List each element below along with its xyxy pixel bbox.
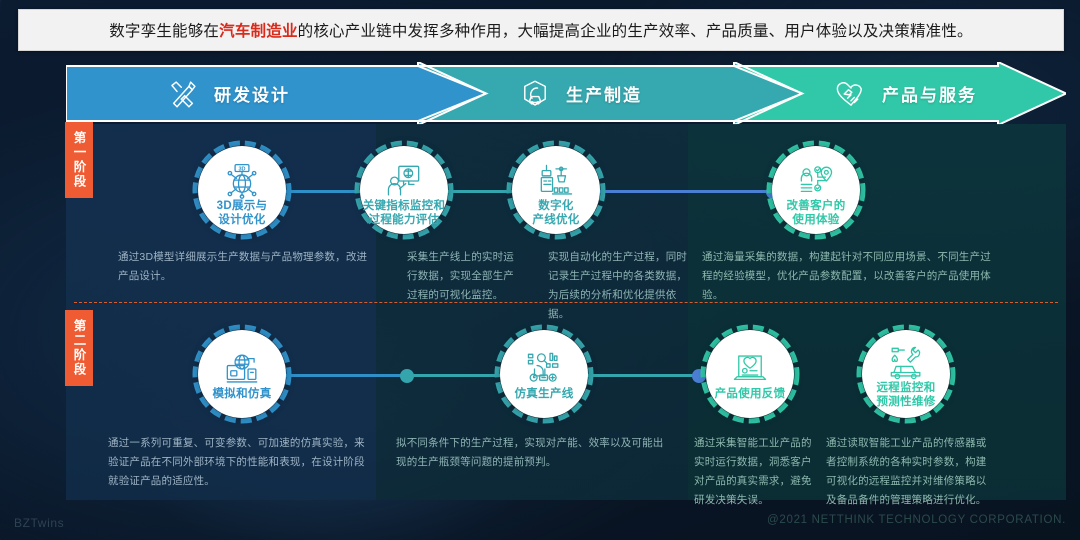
- node-card-customer-experience[interactable]: 改善客户的 使用体验: [766, 140, 866, 240]
- arrow-label-product-service: 产品与服务: [882, 81, 977, 106]
- node-desc-digital-line: 实现自动化的生产过程，同时记录生产过程中的各类数据，为后续的分析和优化提供依据。: [548, 248, 694, 324]
- phase-arrow-band: 研发设计 生产制造: [66, 62, 1066, 125]
- arrow-label-manufacturing: 生产制造: [566, 81, 642, 106]
- simulation-icon: [223, 350, 261, 389]
- headline-text: 数字孪生能够在汽车制造业的核心产业链中发挥多种作用，大幅提高企业的生产效率、产品…: [109, 19, 973, 41]
- stage-badge-one: 第一阶段: [65, 122, 93, 198]
- footer-brand: BZTwins: [14, 516, 64, 530]
- headline-banner: 数字孪生能够在汽车制造业的核心产业链中发挥多种作用，大幅提高企业的生产效率、产品…: [18, 9, 1064, 51]
- arrow-phase-rd[interactable]: 研发设计: [66, 62, 486, 125]
- node-title: 3D展示与 设计优化: [217, 199, 268, 227]
- node-circle: 关键指标监控和 过程能力评估: [360, 146, 448, 234]
- node-title: 仿真生产线: [515, 387, 574, 401]
- stage-board: 第一阶段 第二阶段 3D: [66, 124, 1066, 500]
- node-circle: 3D 3D展示与 设计优化: [198, 146, 286, 234]
- node-title: 远程监控和 预测性维修: [877, 381, 936, 409]
- monitor-person-icon: [385, 162, 423, 201]
- arrow-label-rd: 研发设计: [214, 81, 290, 106]
- node-card-kpi-monitoring[interactable]: 关键指标监控和 过程能力评估: [354, 140, 454, 240]
- node-title: 关键指标监控和 过程能力评估: [363, 199, 446, 227]
- node-card-virtual-line[interactable]: 仿真生产线: [494, 324, 594, 424]
- node-card-digital-line[interactable]: 数字化 产线优化: [506, 140, 606, 240]
- headline-post: 的核心产业链中发挥多种作用，大幅提高企业的生产效率、产品质量、用户体验以及决策精…: [298, 23, 973, 40]
- customer-journey-icon: [797, 162, 835, 201]
- node-title: 改善客户的 使用体验: [787, 199, 846, 227]
- node-desc-product-feedback: 通过采集智能工业产品的实时运行数据，洞悉客户对产品的真实需求，避免研发决策失误。: [694, 434, 816, 510]
- node-card-remote-maintenance[interactable]: 远程监控和 预测性维修: [856, 324, 956, 424]
- node-circle: 改善客户的 使用体验: [772, 146, 860, 234]
- headline-pre: 数字孪生能够在: [109, 23, 219, 40]
- node-title: 产品使用反馈: [715, 387, 786, 401]
- node-card-product-feedback[interactable]: 产品使用反馈: [700, 324, 800, 424]
- node-title: 数字化 产线优化: [532, 199, 579, 227]
- production-line-icon: [537, 162, 575, 201]
- 3d-globe-icon: 3D: [223, 162, 261, 201]
- car-maintenance-icon: [887, 344, 925, 383]
- node-title: 模拟和仿真: [213, 387, 272, 401]
- node-desc-kpi-monitoring: 采集生产线上的实时运行数据，实现全部生产过程的可视化监控。: [407, 248, 523, 305]
- node-circle: 远程监控和 预测性维修: [862, 330, 950, 418]
- node-circle: 产品使用反馈: [706, 330, 794, 418]
- node-desc-remote-maintenance: 通过读取智能工业产品的传感器或者控制系统的各种实时参数，构建可视化的远程监控并对…: [826, 434, 994, 510]
- headline-highlight: 汽车制造业: [219, 23, 298, 40]
- node-circle: 仿真生产线: [500, 330, 588, 418]
- car-manufacturing-icon: [518, 77, 552, 111]
- laptop-feedback-icon: [731, 350, 769, 389]
- drafting-compass-icon: [166, 77, 200, 111]
- node-circle: 数字化 产线优化: [512, 146, 600, 234]
- footer-copyright: @2021 NETTHINK TECHNOLOGY CORPORATION.: [767, 514, 1066, 526]
- virtual-line-icon: [525, 350, 563, 389]
- node-desc-3d-display: 通过3D模型详细展示生产数据与产品物理参数，改进产品设计。: [118, 248, 376, 286]
- node-circle: 模拟和仿真: [198, 330, 286, 418]
- stage-badge-two: 第二阶段: [65, 310, 93, 386]
- node-desc-virtual-line: 拟不同条件下的生产过程，实现对产能、效率以及可能出现的生产瓶颈等问题的提前预判。: [396, 434, 664, 472]
- node-card-simulation[interactable]: 模拟和仿真: [192, 324, 292, 424]
- handshake-heart-icon: [834, 77, 868, 111]
- connector-node-s2-2: [400, 369, 414, 383]
- node-card-3d-display[interactable]: 3D 3D展示与 设计优化: [192, 140, 292, 240]
- node-desc-simulation: 通过一系列可重复、可变参数、可加速的仿真实验，来验证产品在不同外部环境下的性能和…: [108, 434, 374, 491]
- node-desc-customer-experience: 通过海量采集的数据，构建起针对不同应用场景、不同生产过程的经验模型，优化产品参数…: [702, 248, 992, 305]
